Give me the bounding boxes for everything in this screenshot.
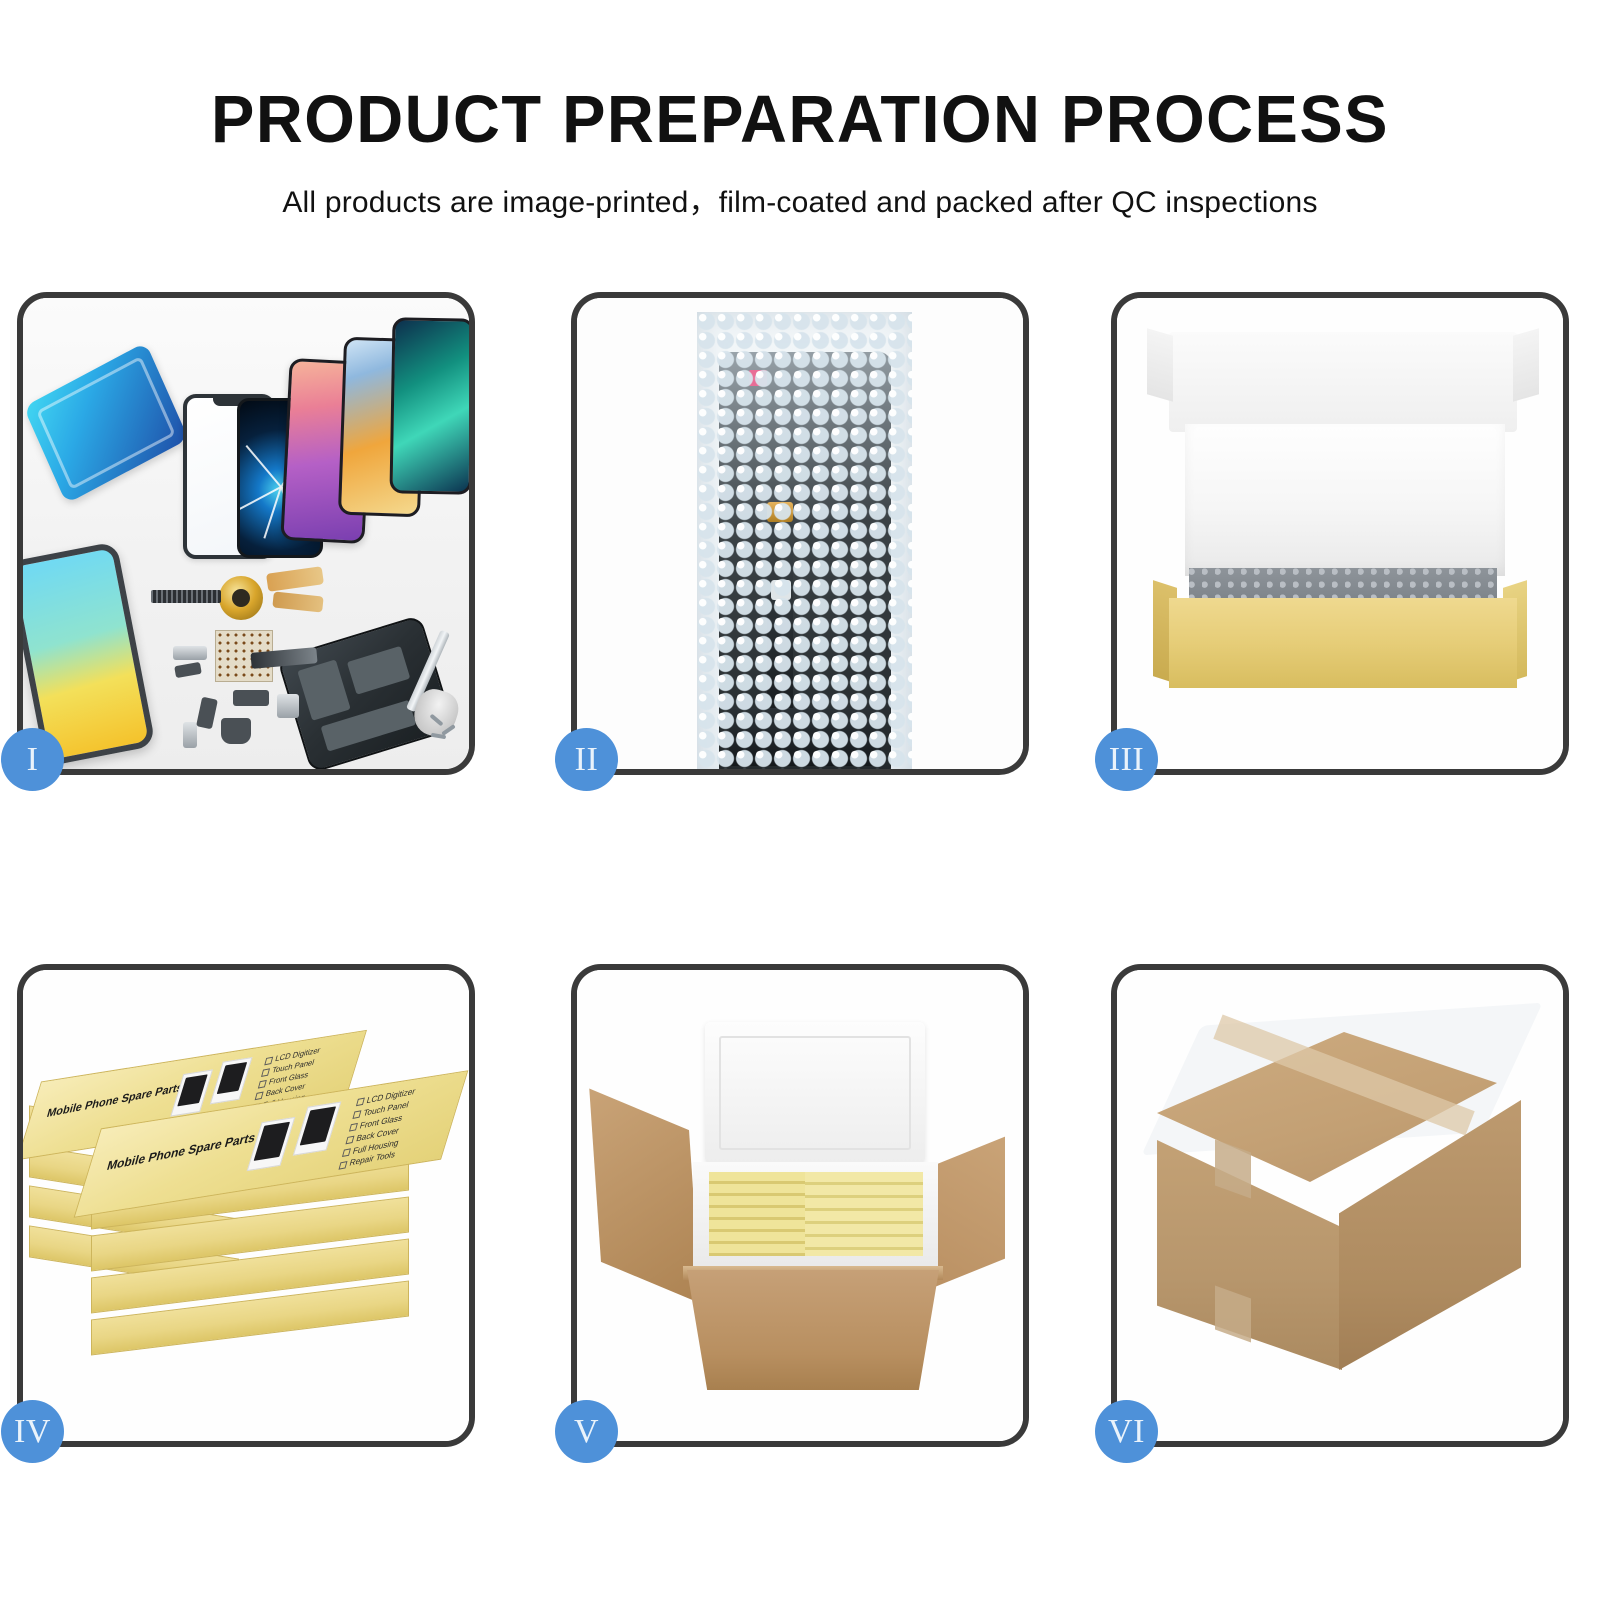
product-preparation-infographic: PRODUCT PREPARATION PROCESS All products… xyxy=(0,0,1600,1600)
step-image-6 xyxy=(1117,970,1563,1441)
small-part-speaker xyxy=(221,718,251,744)
small-part-bracket xyxy=(174,662,202,678)
small-part-sim-tray xyxy=(183,722,197,748)
page-title: PRODUCT PREPARATION PROCESS xyxy=(24,0,1576,153)
connector-strip xyxy=(151,590,221,603)
foam-sheet xyxy=(1185,424,1505,576)
small-part-shield xyxy=(173,646,207,660)
page-subtitle: All products are image-printed，film-coat… xyxy=(0,153,1600,221)
step-card-2: II xyxy=(571,292,1029,775)
step-card-6: VI xyxy=(1111,964,1569,1447)
step-badge-3: III xyxy=(1095,728,1158,791)
step-card-1: I xyxy=(17,292,475,775)
small-part-ic xyxy=(233,690,269,706)
step-image-1 xyxy=(23,298,469,769)
step-card-4: Mobile Phone Spare Parts LCD Digitizer T… xyxy=(17,964,475,1447)
step-card-3: III xyxy=(1111,292,1569,775)
step-card-5: V xyxy=(571,964,1029,1447)
phone-teal-display xyxy=(389,317,469,494)
carton-body xyxy=(687,1270,939,1390)
styrofoam-lid xyxy=(705,1022,925,1164)
step-image-2 xyxy=(577,298,1023,769)
screws xyxy=(429,718,469,742)
step-badge-1: I xyxy=(1,728,64,791)
step-image-4: Mobile Phone Spare Parts LCD Digitizer T… xyxy=(23,970,469,1441)
step-image-3 xyxy=(1117,298,1563,769)
wireless-charging-coil xyxy=(219,576,263,620)
step-badge-2: II xyxy=(555,728,618,791)
step-badge-5: V xyxy=(555,1400,618,1463)
flex-cable-gold-1 xyxy=(266,566,324,592)
process-steps-grid: I xyxy=(17,292,1583,1452)
small-part-vibrator xyxy=(277,694,299,718)
mailer-box-lid xyxy=(1169,332,1517,432)
small-part-button xyxy=(196,697,218,730)
gold-boxes-row-right xyxy=(805,1172,923,1256)
header: PRODUCT PREPARATION PROCESS All products… xyxy=(0,0,1600,221)
adhesive-sticker xyxy=(23,342,188,504)
step-image-5 xyxy=(577,970,1023,1441)
mailer-box-front xyxy=(1169,598,1517,688)
bubble-texture xyxy=(697,312,912,769)
step-badge-4: IV xyxy=(1,1400,64,1463)
bubble-wrap-bag xyxy=(697,312,912,769)
flex-cable-gold-2 xyxy=(272,591,323,612)
step-badge-6: VI xyxy=(1095,1400,1158,1463)
